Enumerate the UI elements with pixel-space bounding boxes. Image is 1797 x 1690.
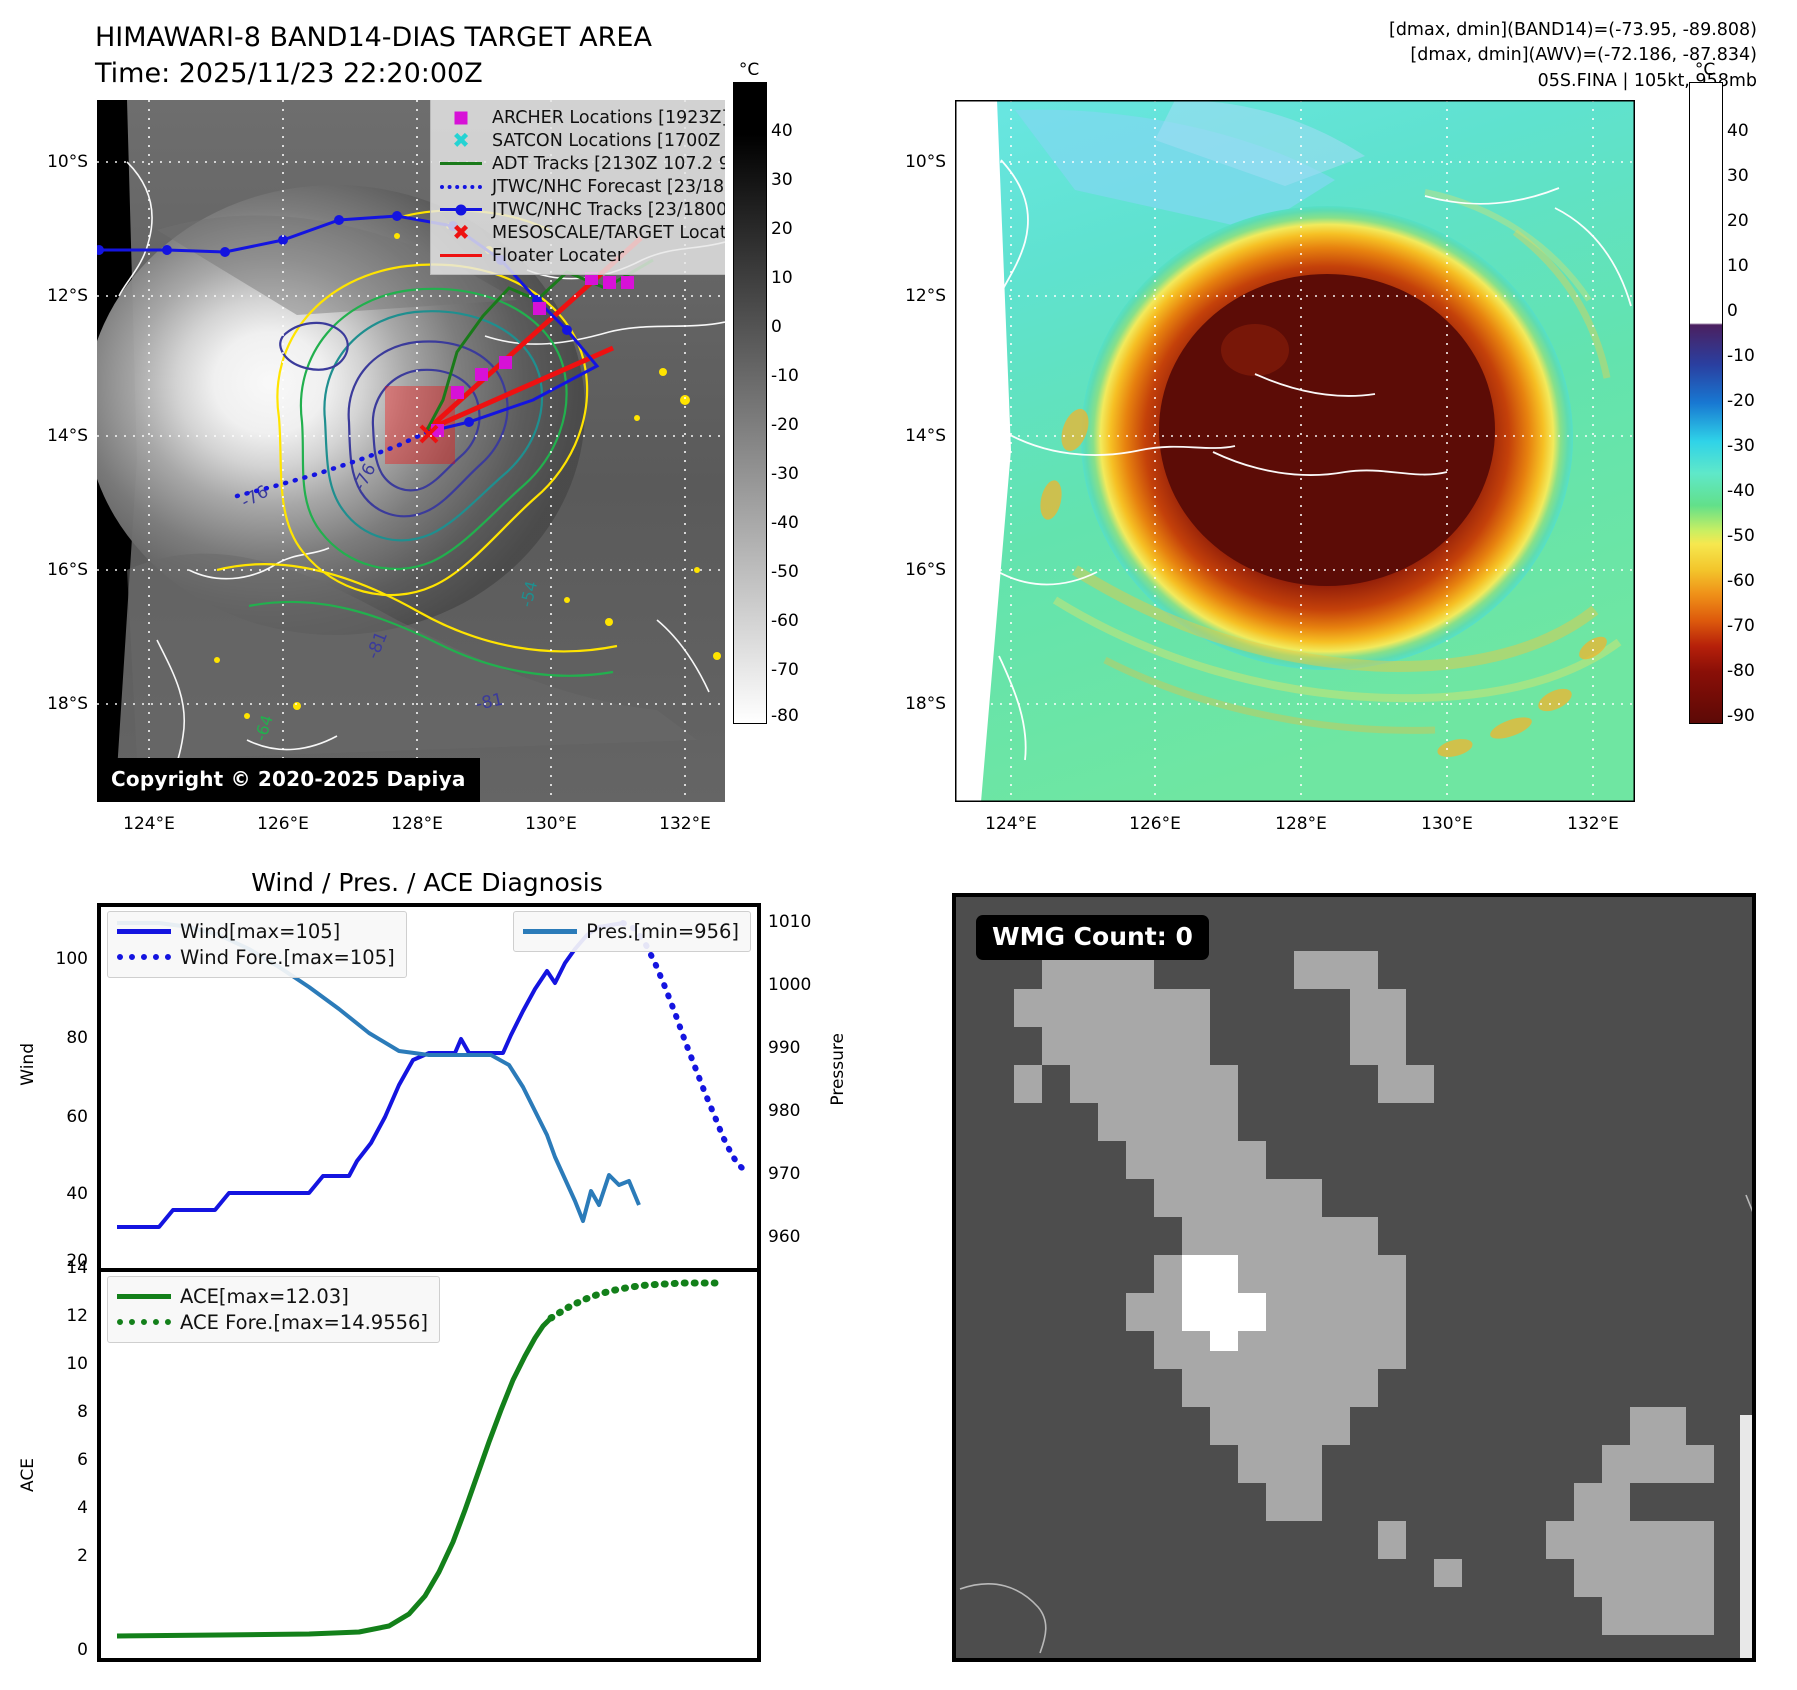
colorbar-tick: 10 [771,268,793,288]
legend-item-archer[interactable]: ARCHER Locations [1923Z] [438,106,725,129]
lon-tick: 124°E [123,814,175,834]
ace-tick: 8 [77,1402,88,1422]
colorbar-tick: -60 [1727,571,1755,591]
lon-tick: 132°E [1567,814,1619,834]
colorbar-tick: -50 [1727,526,1755,546]
ace-y-axis: ACE 14 12 10 8 6 4 2 0 [10,1268,92,1658]
wind-tick: 80 [66,1028,88,1048]
wind-tick: 100 [56,949,88,969]
colorbar-tick: -70 [1727,616,1755,636]
colorbar-tick: -20 [1727,391,1755,411]
pressure-y-axis: Pressure 1010 1000 990 980 970 960 [762,903,857,1268]
colorbar-tick: -90 [1727,706,1755,726]
colorbar-tick: -70 [771,660,799,680]
ace-tick: 0 [77,1640,88,1660]
pressure-tick: 960 [768,1227,800,1247]
pressure-tick: 1010 [768,912,811,932]
colorbar-tick: 20 [771,219,793,239]
legend-item-jtwc-forecast[interactable]: JTWC/NHC Forecast [23/1800Z] [438,175,725,198]
awv-latitude-axis: 10°S 12°S 14°S 16°S 18°S [876,100,952,802]
ace-axis-label: ACE [18,1458,38,1492]
colorbar-tick: 30 [771,170,793,190]
legend-label: SATCON Locations [1700Z 38 1000] [492,131,725,151]
legend-item-wind-forecast[interactable]: Wind Fore.[max=105] [117,944,395,970]
pressure-tick: 970 [768,1164,800,1184]
awv-imagery-svg [955,100,1635,802]
awv-longitude-axis: 124°E 126°E 128°E 130°E 132°E [955,810,1635,840]
ace-chart[interactable]: ACE[max=12.03] ACE Fore.[max=14.9556] [97,1268,761,1662]
pressure-tick: 980 [768,1101,800,1121]
line-with-dot-icon [438,200,484,220]
solid-line-icon [117,1287,171,1305]
legend-item-ace-forecast[interactable]: ACE Fore.[max=14.9556] [117,1309,428,1335]
legend-label: JTWC/NHC Tracks [23/1800Z] [492,200,725,220]
legend-label: ADT Tracks [2130Z 107.2 951.9] [492,154,725,174]
colorbar-tick: -20 [771,415,799,435]
ace-tick: 10 [66,1354,88,1374]
wmg-panel[interactable]: WMG Count: 0 [952,893,1756,1662]
colorbar-tick: -10 [1727,346,1755,366]
legend-item-pressure[interactable]: Pres.[min=956] [523,918,739,944]
band14-title-line2: Time: 2025/11/23 22:20:00Z [95,56,795,92]
lat-tick: 14°S [905,426,946,446]
legend-label: ARCHER Locations [1923Z] [492,108,725,128]
band14-longitude-axis: 124°E 126°E 128°E 130°E 132°E [97,810,725,840]
lon-tick: 124°E [985,814,1037,834]
band14-legend[interactable]: ARCHER Locations [1923Z] ✖ SATCON Locati… [430,100,725,275]
colorbar-tick: -10 [771,366,799,386]
colorbar-tick: -60 [771,611,799,631]
legend-label: ACE[max=12.03] [180,1285,349,1308]
colorbar-tick: -40 [1727,481,1755,501]
lon-tick: 126°E [1129,814,1181,834]
lat-tick: 10°S [905,152,946,172]
band14-title-line1: HIMAWARI-8 BAND14-DIAS TARGET AREA [95,20,795,56]
colorbar-tick: 20 [1727,211,1749,231]
ace-tick: 4 [77,1498,88,1518]
dotted-line-icon [438,177,484,197]
legend-label: Wind Fore.[max=105] [180,946,395,969]
lat-tick: 18°S [47,694,88,714]
pressure-tick: 1000 [768,975,811,995]
ace-tick: 12 [66,1306,88,1326]
colorbar-tick: -30 [771,464,799,484]
wind-tick: 60 [66,1107,88,1127]
copyright-text: Copyright © 2020-2025 Dapiya [97,758,480,802]
ace-chart-legend[interactable]: ACE[max=12.03] ACE Fore.[max=14.9556] [107,1276,440,1343]
awv-enhanced-image[interactable] [955,100,1635,802]
colorbar-gradient [1689,82,1723,724]
legend-item-wind[interactable]: Wind[max=105] [117,918,395,944]
ace-series-line [117,1318,551,1636]
lat-tick: 14°S [47,426,88,446]
colorbar-gradient [733,82,767,724]
legend-label: Pres.[min=956] [586,920,739,943]
colorbar-tick: 30 [1727,166,1749,186]
wind-chart-legend[interactable]: Wind[max=105] Wind Fore.[max=105] [107,911,407,978]
colorbar-tick: -50 [771,562,799,582]
lon-tick: 130°E [525,814,577,834]
dotted-line-icon [117,948,171,966]
pressure-axis-label: Pressure [828,1033,848,1106]
legend-label: ACE Fore.[max=14.9556] [180,1311,428,1334]
wmg-grid-svg [954,895,1754,1660]
lat-tick: 12°S [47,286,88,306]
pressure-tick: 990 [768,1038,800,1058]
dotted-line-icon [117,1313,171,1331]
wind-pressure-chart[interactable]: Wind[max=105] Wind Fore.[max=105] Pres.[… [97,903,761,1272]
wind-forecast-series-line [623,923,743,1169]
panel-band14-title: HIMAWARI-8 BAND14-DIAS TARGET AREA Time:… [95,20,795,92]
colorbar-tick: 40 [771,121,793,141]
band14-latitude-axis: 10°S 12°S 14°S 16°S 18°S [18,100,94,802]
colorbar-tick: -80 [771,706,799,726]
colorbar-tick: 0 [771,317,782,337]
lon-tick: 126°E [257,814,309,834]
lat-tick: 16°S [47,560,88,580]
legend-label: Wind[max=105] [180,920,340,943]
legend-item-mesoscale-target[interactable]: ✖ MESOSCALE/TARGET Location [438,221,725,244]
legend-item-jtwc-tracks[interactable]: JTWC/NHC Tracks [23/1800Z] [438,198,725,221]
colorbar-tick: -30 [1727,436,1755,456]
colorbar-unit: °C [739,60,759,80]
x-marker-icon: ✖ [438,223,484,243]
lat-tick: 10°S [47,152,88,172]
legend-item-satcon[interactable]: ✖ SATCON Locations [1700Z 38 1000] [438,129,725,152]
lon-tick: 132°E [659,814,711,834]
colorbar-tick: -40 [771,513,799,533]
band14-satellite-image[interactable]: -76 -76 -81 -81 -64 -54 [97,100,725,802]
x-marker-icon: ✖ [438,131,484,151]
colorbar-tick: 10 [1727,256,1749,276]
legend-label: Floater Locater [492,246,624,266]
ace-tick: 14 [66,1258,88,1278]
lon-tick: 130°E [1421,814,1473,834]
lat-tick: 12°S [905,286,946,306]
wind-y-axis: Wind 100 80 60 40 20 [10,903,92,1268]
diagnosis-title: Wind / Pres. / ACE Diagnosis [97,868,757,897]
solid-line-icon [523,922,577,940]
legend-label: MESOSCALE/TARGET Location [492,223,725,243]
ace-tick: 2 [77,1546,88,1566]
legend-item-adt-tracks[interactable]: ADT Tracks [2130Z 107.2 951.9] [438,152,725,175]
legend-item-ace[interactable]: ACE[max=12.03] [117,1283,428,1309]
pressure-chart-legend[interactable]: Pres.[min=956] [513,911,751,952]
solid-line-icon [438,154,484,174]
wind-tick: 40 [66,1184,88,1204]
legend-item-floater-locater[interactable]: Floater Locater [438,244,725,267]
lon-tick: 128°E [391,814,443,834]
solid-line-icon [117,922,171,940]
lat-tick: 16°S [905,560,946,580]
wmg-count-badge: WMG Count: 0 [976,915,1209,960]
colorbar-tick: 40 [1727,121,1749,141]
square-marker-icon [438,108,484,128]
ace-tick: 6 [77,1450,88,1470]
colorbar-tick: 0 [1727,301,1738,321]
lat-tick: 18°S [905,694,946,714]
ace-forecast-series-line [551,1283,715,1318]
legend-label: JTWC/NHC Forecast [23/1800Z] [492,177,725,197]
lon-tick: 128°E [1275,814,1327,834]
wind-axis-label: Wind [18,1043,38,1086]
colorbar-unit: °C [1695,60,1715,80]
awv-header-band14-range: [dmax, dmin](BAND14)=(-73.95, -89.808) [1389,18,1757,43]
colorbar-tick: -80 [1727,661,1755,681]
solid-line-icon [438,246,484,266]
